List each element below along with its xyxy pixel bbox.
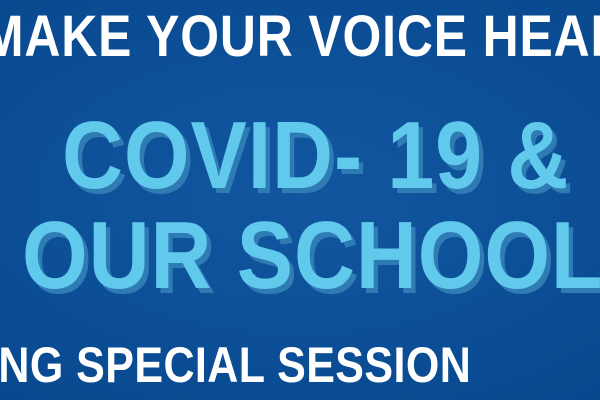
kicker-headline: MAKE YOUR VOICE HEARD [0,8,600,66]
headline-line-1: COVID- 19 & [62,108,569,204]
poster-graphic: MAKE YOUR VOICE HEARD COVID- 19 & OUR SC… [0,0,600,400]
subline-text: ING SPECIAL SESSION [0,340,471,390]
headline-line-2: OUR SCHOOLS [22,208,600,304]
